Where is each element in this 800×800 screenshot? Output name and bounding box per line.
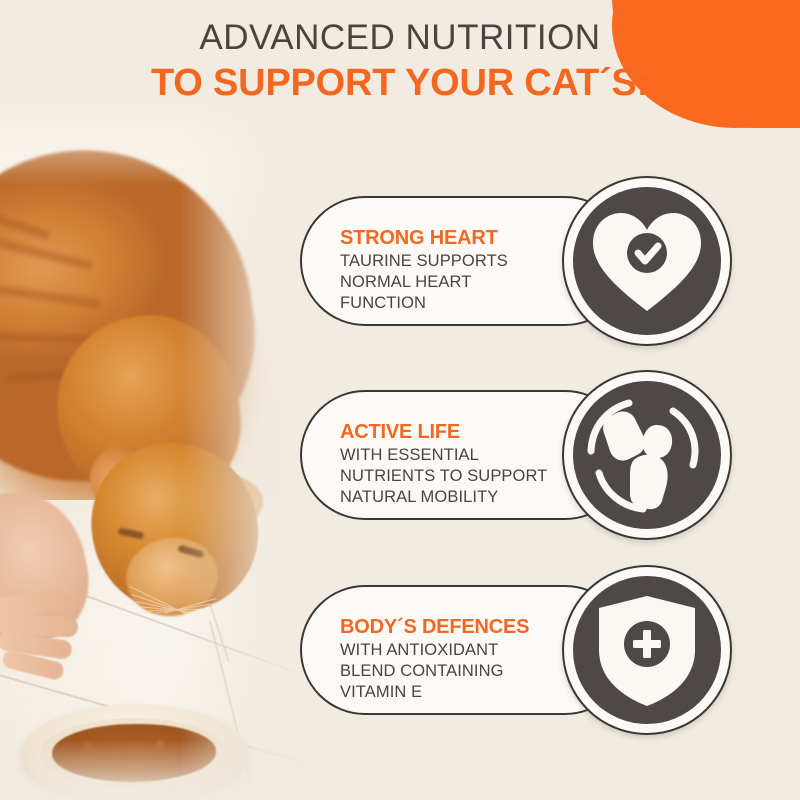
- page-title: ADVANCED NUTRITION TO SUPPORT YOUR CAT´S…: [0, 16, 800, 106]
- photo-background: [0, 96, 330, 800]
- benefit-description: WITH ANTIOXIDANT BLEND CONTAINING VITAMI…: [340, 640, 590, 703]
- benefit-text-block: BODY´S DEFENCES WITH ANTIOXIDANT BLEND C…: [340, 615, 590, 703]
- benefit-description: WITH ESSENTIAL NUTRIENTS TO SUPPORT NATU…: [340, 445, 590, 508]
- benefit-description: TAURINE SUPPORTS NORMAL HEART FUNCTION: [340, 251, 590, 314]
- heart-check-icon: [573, 187, 721, 335]
- benefit-title: STRONG HEART: [340, 226, 590, 251]
- photo-fade-bottom: [0, 740, 330, 800]
- benefit-text-block: STRONG HEART TAURINE SUPPORTS NORMAL HEA…: [340, 226, 590, 314]
- benefit-badge: [562, 565, 732, 735]
- fur-stripe: [0, 198, 51, 241]
- advertisement-canvas: ADVANCED NUTRITION TO SUPPORT YOUR CAT´S…: [0, 0, 800, 800]
- joint-bone-icon: [573, 381, 721, 529]
- benefit-badge: [562, 176, 732, 346]
- fur-stripe: [0, 280, 100, 308]
- benefit-row-active-life: ACTIVE LIFE WITH ESSENTIAL NUTRIENTS TO …: [300, 370, 700, 530]
- cat-eating-photo: [0, 96, 330, 800]
- benefit-title: BODY´S DEFENCES: [340, 615, 590, 640]
- benefit-text-block: ACTIVE LIFE WITH ESSENTIAL NUTRIENTS TO …: [340, 420, 590, 508]
- benefit-title: ACTIVE LIFE: [340, 420, 590, 445]
- benefit-row-strong-heart: STRONG HEART TAURINE SUPPORTS NORMAL HEA…: [300, 176, 700, 336]
- benefit-row-body-defences: BODY´S DEFENCES WITH ANTIOXIDANT BLEND C…: [300, 565, 700, 725]
- cat-whiskers: [96, 594, 216, 634]
- benefit-badge: [562, 370, 732, 540]
- headline-line-2: TO SUPPORT YOUR CAT´S:: [0, 60, 800, 106]
- headline-line-1: ADVANCED NUTRITION: [0, 16, 800, 60]
- shield-plus-icon: [573, 576, 721, 724]
